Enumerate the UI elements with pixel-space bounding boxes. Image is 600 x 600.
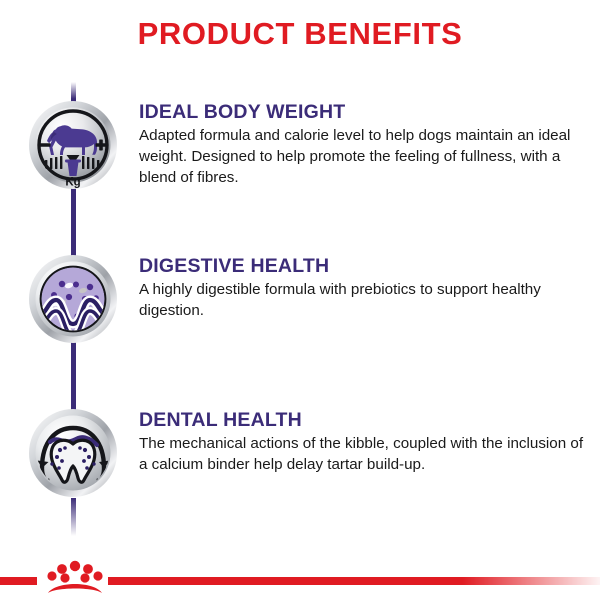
dog-on-weighing-scale-icon: Kg bbox=[28, 100, 118, 190]
benefit-text-block: DENTAL HEALTH The mechanical actions of … bbox=[139, 410, 584, 476]
benefit-item: DENTAL HEALTH The mechanical actions of … bbox=[0, 408, 600, 508]
footer-brand-bar bbox=[0, 556, 600, 600]
benefit-description: Adapted formula and calorie level to hel… bbox=[139, 126, 584, 189]
benefit-text-block: IDEAL BODY WEIGHT Adapted formula and ca… bbox=[139, 102, 584, 189]
benefit-text-block: DIGESTIVE HEALTH A highly digestible for… bbox=[139, 256, 584, 322]
kg-unit-label: Kg bbox=[65, 177, 80, 189]
product-benefits-panel: PRODUCT BENEFITS bbox=[0, 0, 600, 600]
benefit-description: A highly digestible formula with prebiot… bbox=[139, 280, 584, 322]
benefit-item: DIGESTIVE HEALTH A highly digestible for… bbox=[0, 254, 600, 354]
royal-canin-crown-logo bbox=[38, 556, 112, 600]
minus-sign-icon bbox=[40, 143, 51, 147]
benefit-description: The mechanical actions of the kibble, co… bbox=[139, 434, 584, 476]
intestine-digestive-icon bbox=[28, 254, 118, 344]
page-title: PRODUCT BENEFITS bbox=[0, 16, 600, 52]
benefit-heading: IDEAL BODY WEIGHT bbox=[139, 102, 584, 122]
benefit-heading: DIGESTIVE HEALTH bbox=[139, 256, 584, 276]
benefit-item: Kg IDEAL BODY WEIGHT Adapted formula and… bbox=[0, 100, 600, 200]
footer-rule-left bbox=[0, 577, 37, 585]
benefit-heading: DENTAL HEALTH bbox=[139, 410, 584, 430]
tooth-dental-icon bbox=[28, 408, 118, 498]
footer-rule-right bbox=[108, 577, 600, 585]
